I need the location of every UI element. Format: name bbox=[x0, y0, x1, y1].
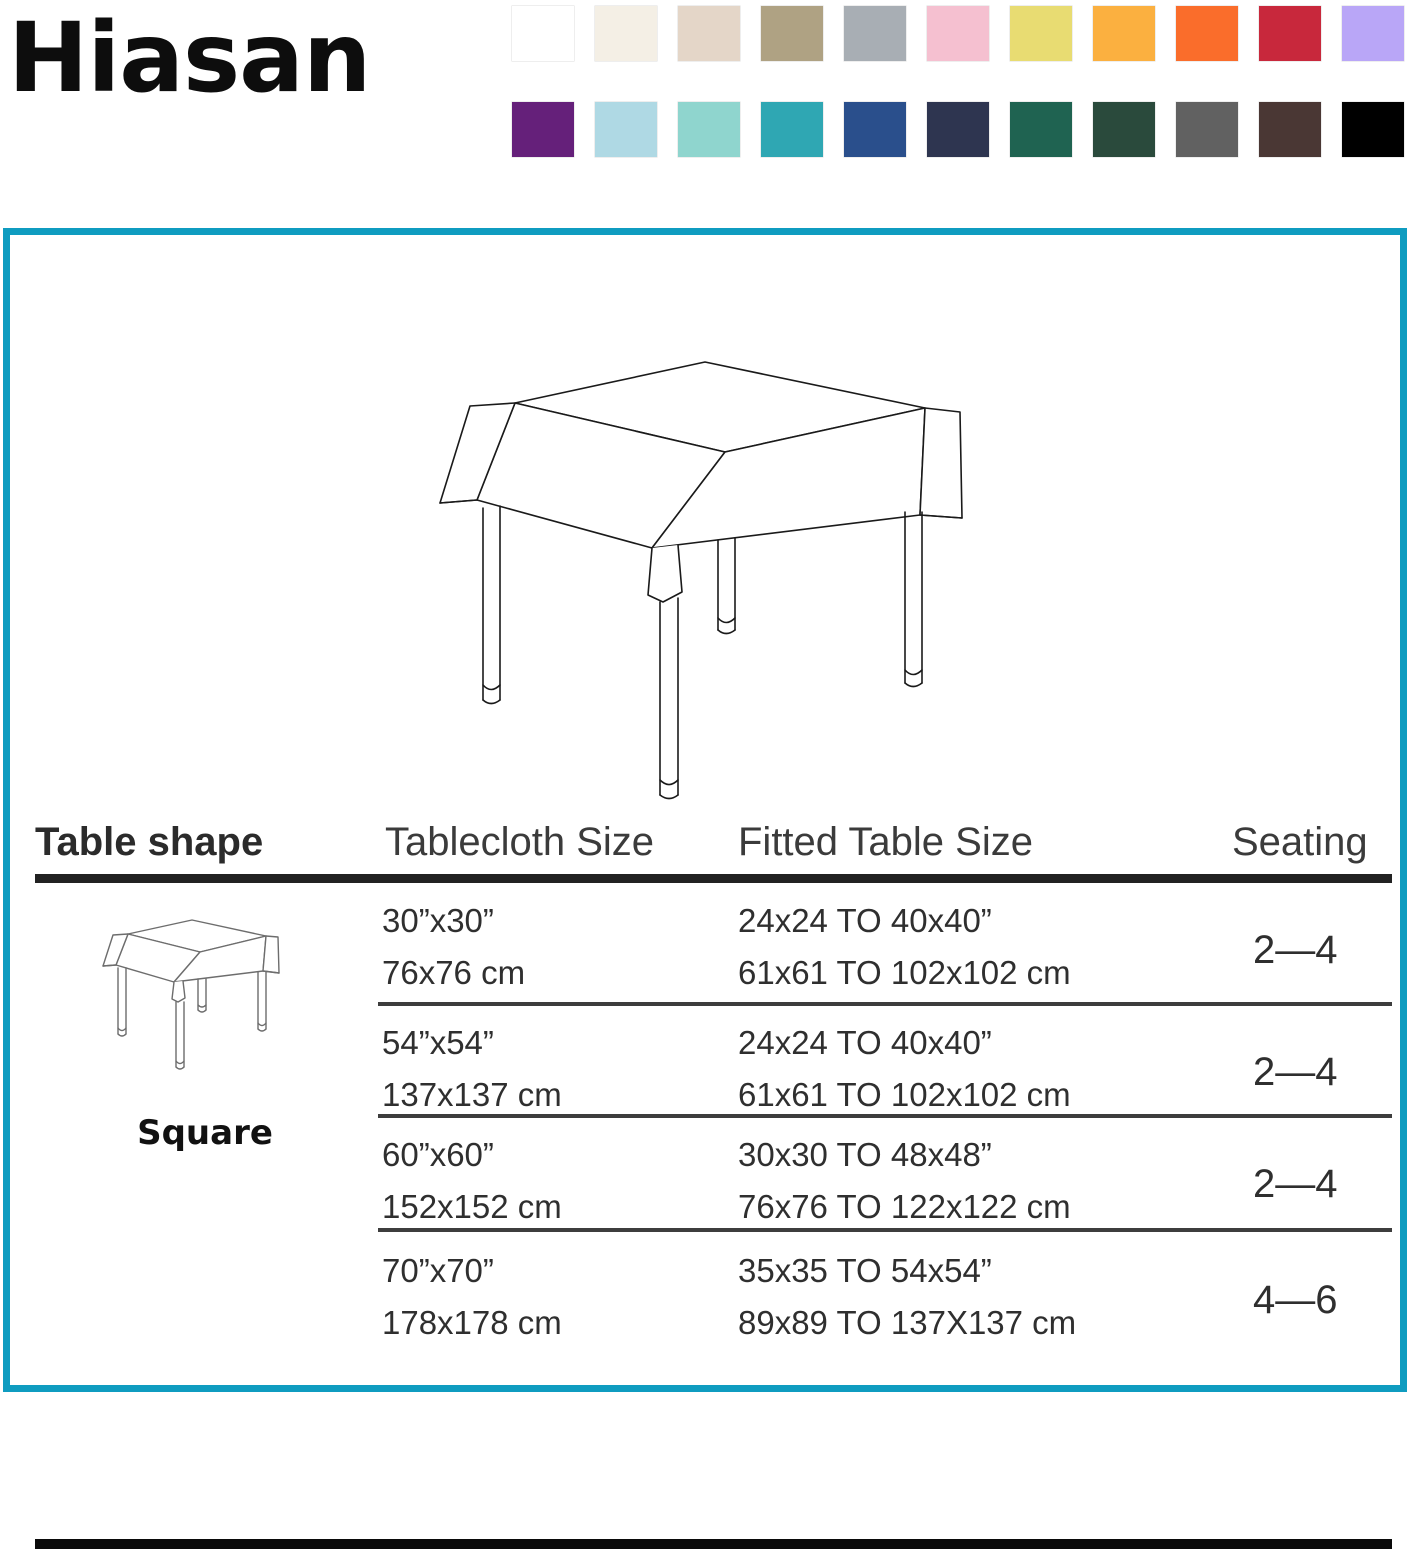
cell-tablecloth-inches: 30”x30” bbox=[382, 904, 494, 937]
cell-seating: 2—4 bbox=[1253, 930, 1338, 970]
table-row: 54”x54” 137x137 cm 24x24 TO 40x40” 61x61… bbox=[10, 1012, 1400, 1122]
header-divider bbox=[35, 874, 1392, 883]
row-divider bbox=[378, 1114, 1392, 1118]
swatch-charcoal[interactable] bbox=[1176, 102, 1238, 157]
cell-fitted-cm: 89x89 TO 137X137 cm bbox=[738, 1306, 1076, 1339]
cell-tablecloth-inches: 54”x54” bbox=[382, 1026, 494, 1059]
table-header-row: Table shape Tablecloth Size Fitted Table… bbox=[10, 800, 1400, 862]
swatch-light-blue[interactable] bbox=[595, 102, 657, 157]
swatch-teal[interactable] bbox=[761, 102, 823, 157]
swatch-cream[interactable] bbox=[595, 6, 657, 61]
swatch-emerald[interactable] bbox=[1010, 102, 1072, 157]
swatch-gold[interactable] bbox=[1093, 6, 1155, 61]
column-header-seating: Seating bbox=[1232, 822, 1368, 862]
cell-tablecloth-inches: 70”x70” bbox=[382, 1254, 494, 1287]
brand-logo: Hiasan bbox=[8, 8, 370, 109]
table-row: 30”x30” 76x76 cm 24x24 TO 40x40” 61x61 T… bbox=[10, 890, 1400, 1000]
row-divider bbox=[378, 1228, 1392, 1232]
swatch-lavender[interactable] bbox=[1342, 6, 1404, 61]
cell-tablecloth-cm: 76x76 cm bbox=[382, 956, 525, 989]
column-header-table-shape: Table shape bbox=[35, 822, 263, 862]
cell-seating: 2—4 bbox=[1253, 1164, 1338, 1204]
swatch-taupe[interactable] bbox=[761, 6, 823, 61]
swatch-orange[interactable] bbox=[1176, 6, 1238, 61]
square-tablecloth-illustration bbox=[420, 340, 980, 800]
swatch-brown[interactable] bbox=[1259, 102, 1321, 157]
cell-fitted-inches: 24x24 TO 40x40” bbox=[738, 904, 992, 937]
color-swatch-row-2 bbox=[512, 102, 1412, 157]
swatch-gray[interactable] bbox=[844, 6, 906, 61]
swatch-white[interactable] bbox=[512, 6, 574, 61]
cell-seating: 4—6 bbox=[1253, 1280, 1338, 1320]
cell-fitted-cm: 76x76 TO 122x122 cm bbox=[738, 1190, 1071, 1223]
swatch-forest[interactable] bbox=[1093, 102, 1155, 157]
swatch-pink[interactable] bbox=[927, 6, 989, 61]
table-row: 60”x60” 152x152 cm 30x30 TO 48x48” 76x76… bbox=[10, 1124, 1400, 1234]
color-swatch-row-1 bbox=[512, 6, 1412, 61]
cell-tablecloth-cm: 137x137 cm bbox=[382, 1078, 562, 1111]
size-spec-table: Table shape Tablecloth Size Fitted Table… bbox=[10, 800, 1400, 862]
table-row: 70”x70” 178x178 cm 35x35 TO 54x54” 89x89… bbox=[10, 1240, 1400, 1350]
cell-fitted-cm: 61x61 TO 102x102 cm bbox=[738, 1078, 1071, 1111]
table-bottom-divider bbox=[35, 1539, 1392, 1549]
cell-fitted-inches: 24x24 TO 40x40” bbox=[738, 1026, 992, 1059]
swatch-mint[interactable] bbox=[678, 102, 740, 157]
row-divider bbox=[378, 1002, 1392, 1006]
brand-header: Hiasan bbox=[0, 0, 1416, 200]
swatch-navy[interactable] bbox=[927, 102, 989, 157]
swatch-black[interactable] bbox=[1342, 102, 1404, 157]
swatch-yellow[interactable] bbox=[1010, 6, 1072, 61]
column-header-tablecloth-size: Tablecloth Size bbox=[385, 822, 654, 862]
cell-tablecloth-inches: 60”x60” bbox=[382, 1138, 494, 1171]
color-swatch-grid bbox=[512, 6, 1412, 198]
swatch-beige[interactable] bbox=[678, 6, 740, 61]
column-header-fitted-table-size: Fitted Table Size bbox=[738, 822, 1033, 862]
cell-fitted-inches: 30x30 TO 48x48” bbox=[738, 1138, 992, 1171]
cell-tablecloth-cm: 178x178 cm bbox=[382, 1306, 562, 1339]
swatch-red[interactable] bbox=[1259, 6, 1321, 61]
cell-fitted-inches: 35x35 TO 54x54” bbox=[738, 1254, 992, 1287]
cell-tablecloth-cm: 152x152 cm bbox=[382, 1190, 562, 1223]
cell-seating: 2—4 bbox=[1253, 1052, 1338, 1092]
cell-fitted-cm: 61x61 TO 102x102 cm bbox=[738, 956, 1071, 989]
swatch-purple[interactable] bbox=[512, 102, 574, 157]
size-guide-panel: Table shape Tablecloth Size Fitted Table… bbox=[3, 228, 1407, 1392]
swatch-blue[interactable] bbox=[844, 102, 906, 157]
